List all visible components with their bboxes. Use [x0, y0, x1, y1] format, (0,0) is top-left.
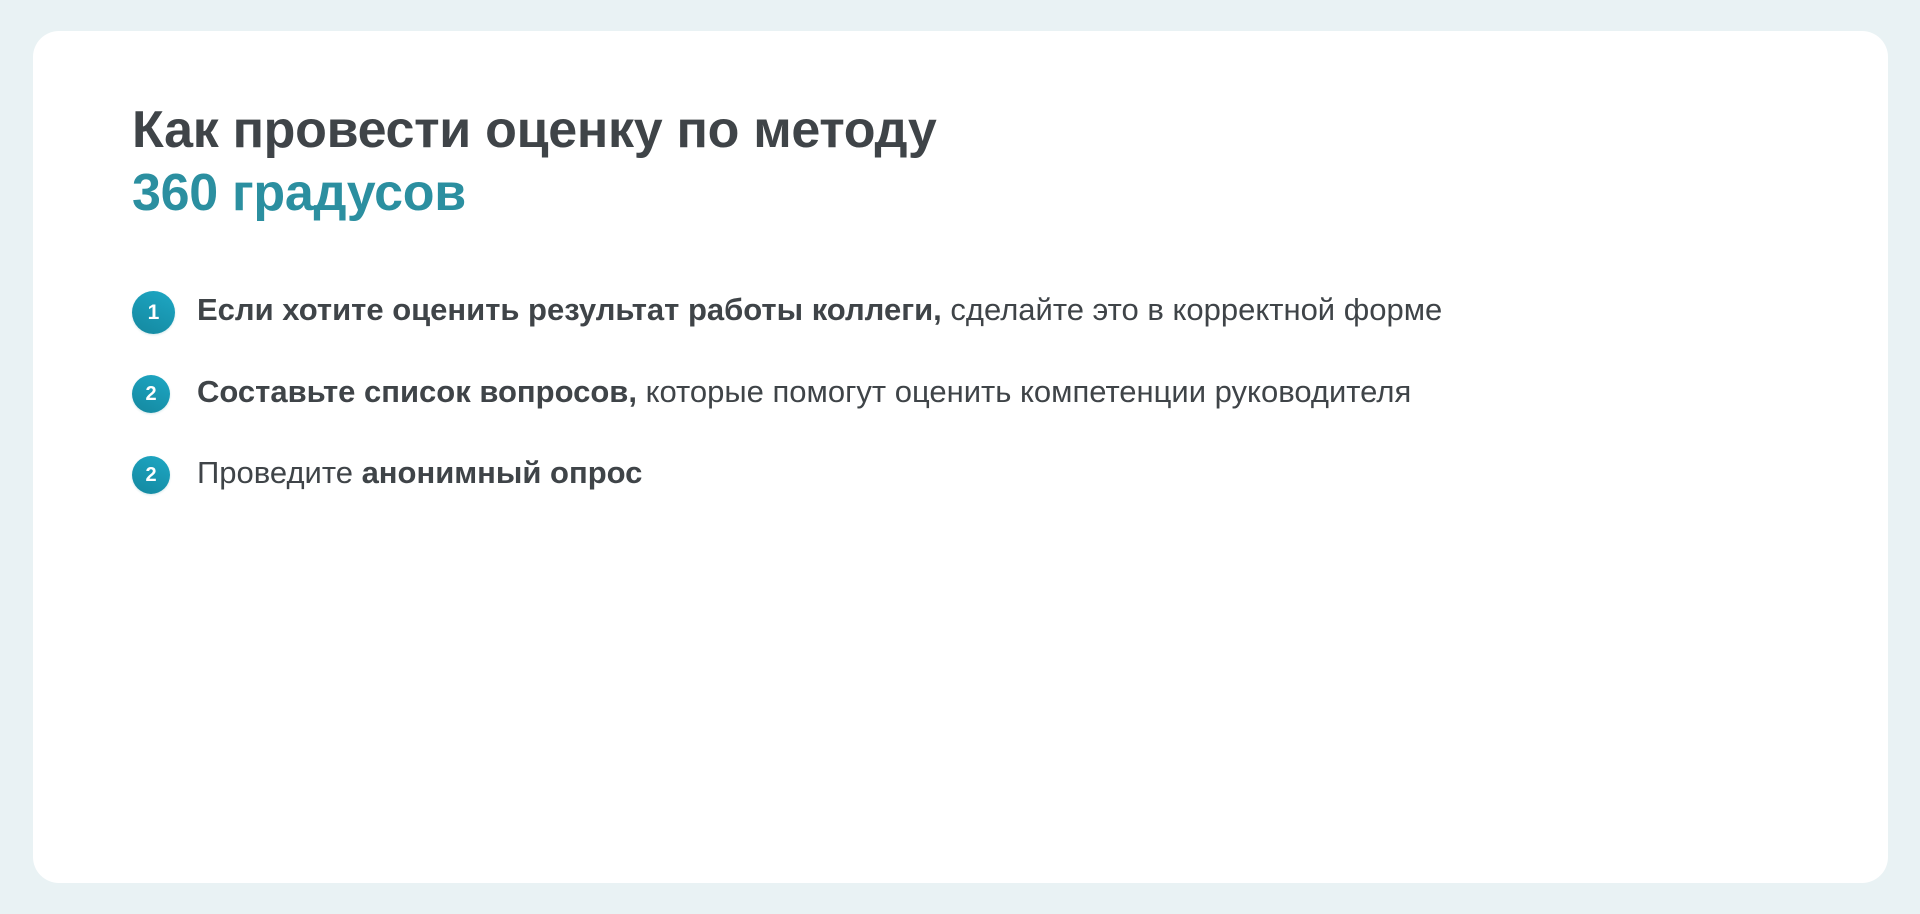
step-text-strong: анонимный опрос	[362, 455, 643, 490]
step-text-strong: Составьте список вопросов,	[197, 374, 637, 409]
step-text-rest: которые помогут оценить компетенции руко…	[637, 374, 1411, 409]
list-item-step-3: 2 Проведите анонимный опрос	[132, 451, 1848, 496]
list-item-step-2: 2 Составьте список вопросов, которые пом…	[132, 370, 1848, 415]
steps-list: 1 Если хотите оценить результат работы к…	[132, 288, 1848, 495]
page-root: Как провести оценку по методу 360 градус…	[0, 0, 1920, 914]
page-title: Как провести оценку по методу 360 градус…	[132, 99, 1848, 226]
step-text: Составьте список вопросов, которые помог…	[197, 370, 1411, 415]
step-text: Если хотите оценить результат работы кол…	[197, 288, 1442, 333]
page-title-line-2-accent: 360 градусов	[132, 162, 1848, 225]
step-number-badge: 2	[132, 375, 170, 413]
step-text-strong: Если хотите оценить результат работы кол…	[197, 292, 942, 327]
step-text-rest: сделайте это в корректной форме	[942, 292, 1443, 327]
step-number-badge: 1	[132, 291, 175, 334]
step-text-lead: Проведите	[197, 455, 362, 490]
step-number-badge: 2	[132, 456, 170, 494]
info-card: Как провести оценку по методу 360 градус…	[33, 31, 1888, 883]
step-text: Проведите анонимный опрос	[197, 451, 642, 496]
list-item-step-1: 1 Если хотите оценить результат работы к…	[132, 288, 1848, 334]
page-title-line-1: Как провести оценку по методу	[132, 99, 1848, 162]
card-content: Как провести оценку по методу 360 градус…	[132, 99, 1848, 495]
